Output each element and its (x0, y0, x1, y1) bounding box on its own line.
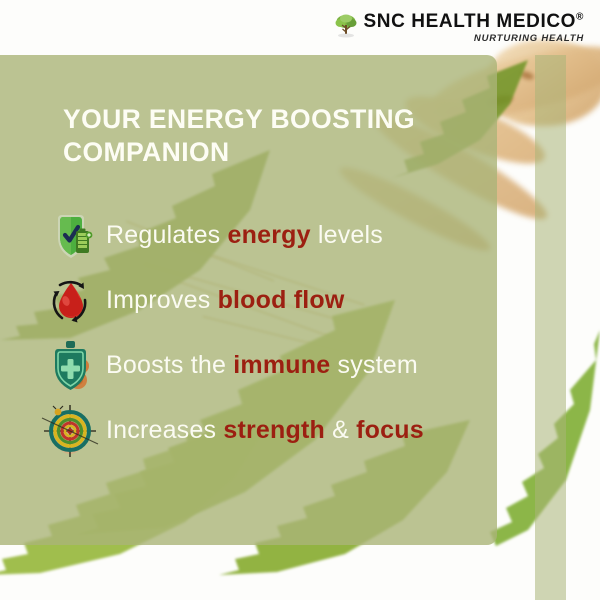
benefit-highlight: strength (223, 416, 325, 444)
list-item: Improves blood flow (40, 268, 480, 333)
blood-drop-circulation-icon (40, 270, 102, 332)
list-item: Increases strength & focus (40, 398, 480, 463)
benefits-list: Regulates energy levels Improves blood f… (40, 203, 480, 463)
target-crosshair-icon (40, 400, 102, 462)
shield-medical-cross-icon (40, 335, 102, 397)
list-item: Boosts the immune system (40, 333, 480, 398)
headline-line-2: COMPANION (63, 136, 463, 169)
benefit-text: Improves blood flow (106, 286, 345, 315)
benefit-text: Increases strength & focus (106, 416, 424, 445)
brand-logo[interactable]: SNC HEALTH MEDICO® NURTURING HEALTH (334, 12, 584, 44)
benefit-highlight: immune (233, 351, 330, 379)
brand-name: SNC HEALTH MEDICO® (364, 12, 584, 31)
accent-strip (535, 55, 566, 600)
page-title: YOUR ENERGY BOOSTING COMPANION (63, 103, 463, 170)
benefit-highlight-2: focus (356, 416, 424, 444)
registered-mark: ® (576, 12, 584, 23)
brand-tagline: NURTURING HEALTH (474, 34, 584, 44)
tree-icon (334, 13, 358, 39)
benefit-text: Boosts the immune system (106, 351, 418, 380)
promo-graphic: SNC HEALTH MEDICO® NURTURING HEALTH YOUR… (0, 0, 600, 600)
benefit-highlight: blood flow (218, 286, 345, 314)
shield-check-battery-icon (40, 205, 102, 267)
benefit-text: Regulates energy levels (106, 221, 383, 250)
benefit-highlight: energy (228, 221, 311, 249)
headline-line-1: YOUR ENERGY BOOSTING (63, 103, 463, 136)
list-item: Regulates energy levels (40, 203, 480, 268)
